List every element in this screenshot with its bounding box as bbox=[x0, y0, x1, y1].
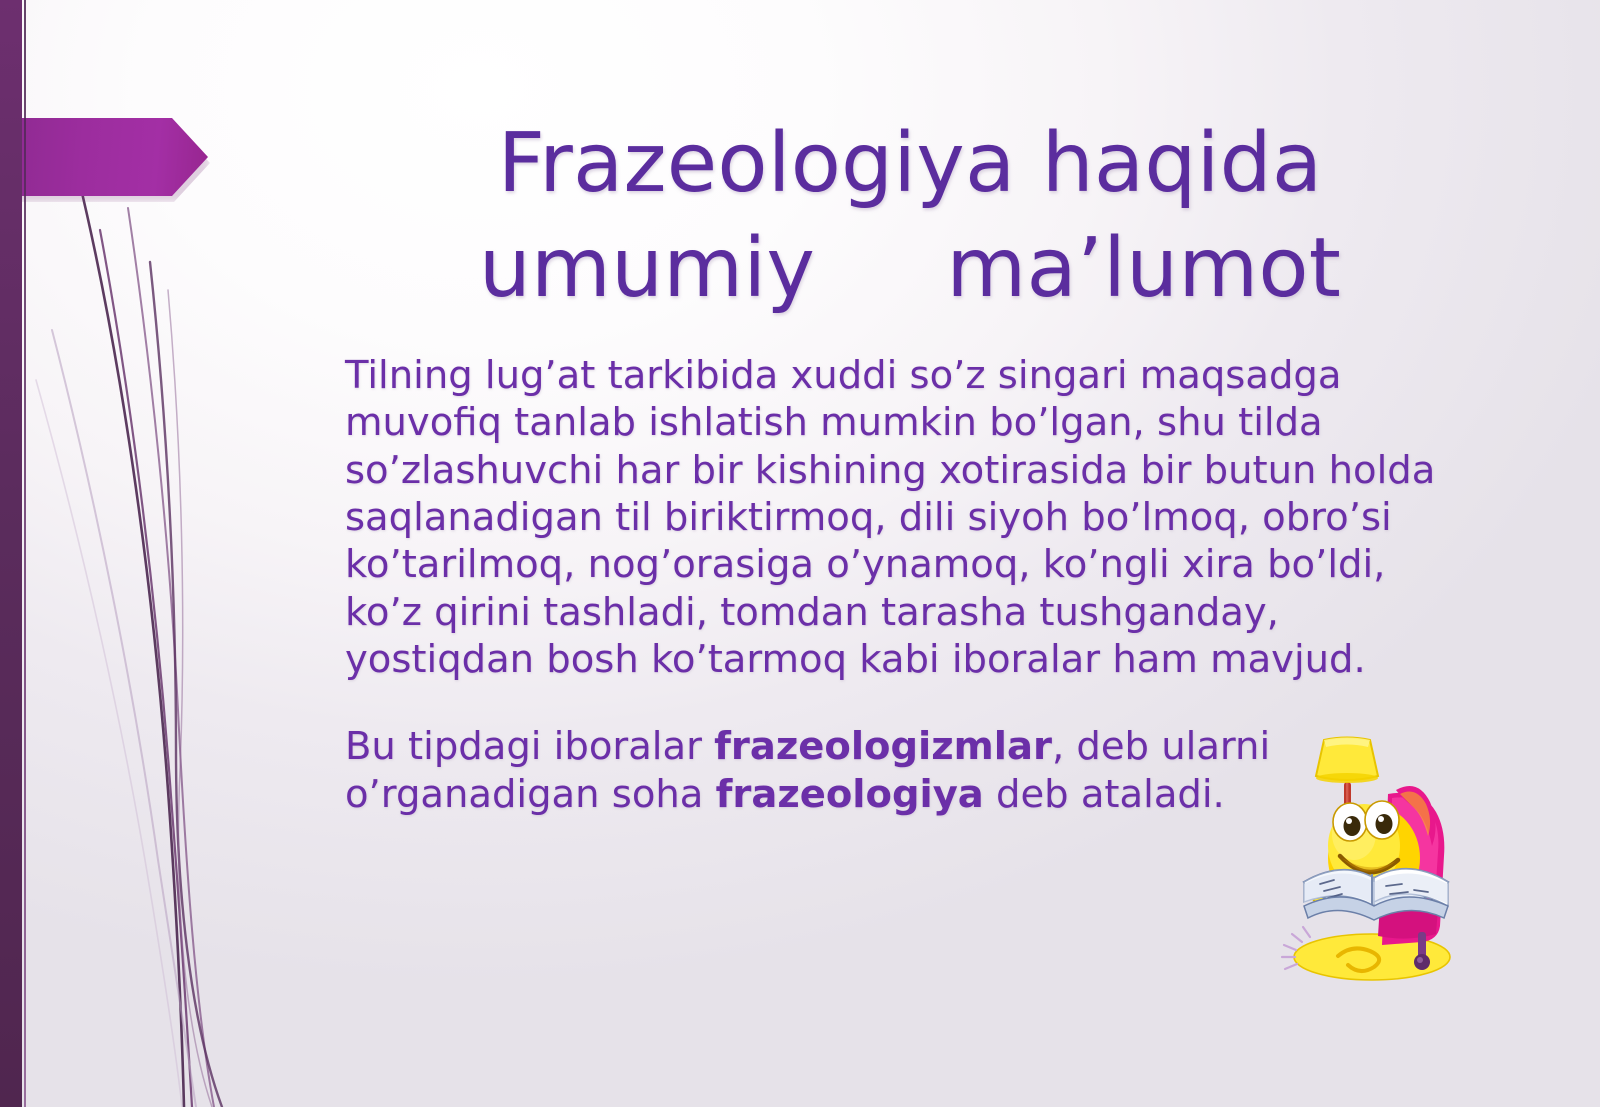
term-frazeologizmlar: frazeologizmlar bbox=[714, 724, 1052, 769]
open-book-shape bbox=[1304, 869, 1448, 920]
smiley-reading-book-illustration bbox=[1268, 734, 1488, 982]
paragraph-2-text-part-1: Bu tipdagi iboralar bbox=[345, 724, 714, 769]
left-purple-edge-bar bbox=[0, 0, 22, 1107]
purple-arrow-banner bbox=[0, 118, 208, 196]
grass-reeds-decoration bbox=[0, 170, 330, 1107]
slide-title: Frazeologiya haqida umumiy ma’lumot bbox=[330, 112, 1490, 322]
term-frazeologiya: frazeologiya bbox=[716, 772, 984, 817]
presentation-slide: Frazeologiya haqida umumiy ma’lumot Tiln… bbox=[0, 0, 1600, 1107]
body-paragraph-1: Tilning lug’at tarkibida xuddi so’z sing… bbox=[345, 352, 1460, 683]
left-accent-line bbox=[24, 0, 26, 1107]
title-line-1: Frazeologiya haqida bbox=[330, 112, 1490, 217]
paragraph-2-text-part-3: deb ataladi. bbox=[984, 772, 1225, 817]
title-line-2: umumiy ma’lumot bbox=[330, 217, 1490, 322]
